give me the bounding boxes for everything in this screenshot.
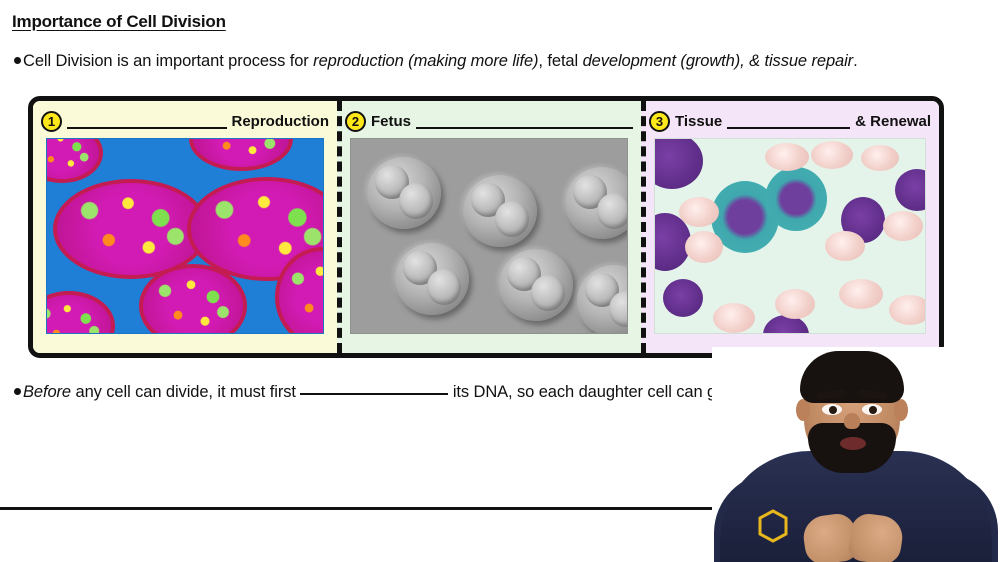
hexagon-logo-icon (758, 509, 788, 543)
red-blood-cell (679, 197, 719, 227)
panel-3-header: 3 Tissue & Renewal (649, 107, 931, 135)
bullet1-seg0: Cell Division is an important process fo… (23, 52, 313, 70)
panel-tissue: 3 Tissue & Renewal (641, 101, 939, 353)
pupil-right (869, 406, 877, 414)
bullet2-seg1: any cell can divide, it must first (71, 383, 300, 401)
red-blood-cell (839, 279, 883, 309)
panel-divider-1 (337, 101, 342, 353)
red-blood-cell (811, 141, 853, 169)
panel-1-label: Reproduction (232, 113, 330, 130)
red-blood-cell (775, 289, 815, 319)
panel-2-number-badge: 2 (345, 111, 366, 132)
red-blood-cell (713, 303, 755, 333)
panel-3-number-badge: 3 (649, 111, 670, 132)
embryo-cell (499, 249, 573, 321)
ear-right (894, 399, 908, 421)
bacterium-cell (46, 138, 103, 183)
panel-reproduction: 1 Reproduction (33, 101, 337, 353)
panel-3-answer-blank[interactable] (727, 114, 850, 129)
red-blood-cell (861, 145, 899, 171)
embryo-cell (367, 157, 441, 229)
slide-canvas: Importance of Cell Division Cell Divisio… (0, 0, 1000, 562)
embryo-cleavage-micrograph (350, 138, 628, 334)
blood-smear-micrograph (654, 138, 926, 334)
panel-fetus: 2 Fetus (337, 101, 641, 353)
embryo-cell (463, 175, 537, 247)
embryo-cell (565, 167, 628, 239)
bullet1-seg1: reproduction (making more life) (313, 52, 538, 70)
bacterium-cell (189, 138, 293, 171)
white-blood-cell (895, 169, 926, 211)
panel-1-answer-blank[interactable] (67, 114, 227, 129)
white-blood-cell (663, 279, 703, 317)
panel-2-label: Fetus (371, 113, 411, 130)
panel-2-answer-blank[interactable] (416, 114, 633, 129)
mouth (840, 437, 866, 450)
bullet2-answer-blank[interactable] (300, 393, 448, 395)
dividing-bacteria-micrograph (46, 138, 324, 334)
red-blood-cell (685, 231, 723, 263)
bacterium-cell (46, 291, 115, 334)
instructor-webcam[interactable] (712, 347, 1000, 562)
ear-left (796, 399, 810, 421)
red-blood-cell (883, 211, 923, 241)
bullet-line-1: Cell Division is an important process fo… (14, 52, 858, 71)
nose (844, 413, 860, 429)
white-blood-cell (654, 138, 703, 189)
panel-divider-2 (641, 101, 646, 353)
bullet1-seg4: . (853, 52, 857, 70)
page-title: Importance of Cell Division (12, 12, 226, 32)
white-blood-cell (765, 167, 827, 231)
red-blood-cell (765, 143, 809, 171)
red-blood-cell (889, 295, 926, 325)
embryo-cell (395, 243, 469, 315)
red-blood-cell (825, 231, 865, 261)
bullet-dot-icon (14, 388, 21, 395)
panel-2-header: 2 Fetus (345, 107, 633, 135)
panel-3-label: Tissue (675, 113, 722, 130)
bullet-dot-icon (14, 57, 21, 64)
figure-frame: 1 Reproduction 2 Fetus (28, 96, 944, 358)
bullet1-seg3: development (growth), & tissue repair (583, 52, 854, 70)
pupil-left (829, 406, 837, 414)
panel-1-header: 1 Reproduction (41, 107, 329, 135)
panel-1-number-badge: 1 (41, 111, 62, 132)
embryo-cell (577, 265, 628, 334)
bullet1-seg2: , fetal (538, 52, 582, 70)
bullet2-seg0: Before (23, 383, 71, 401)
panel-3-trailing-label: & Renewal (855, 113, 931, 130)
